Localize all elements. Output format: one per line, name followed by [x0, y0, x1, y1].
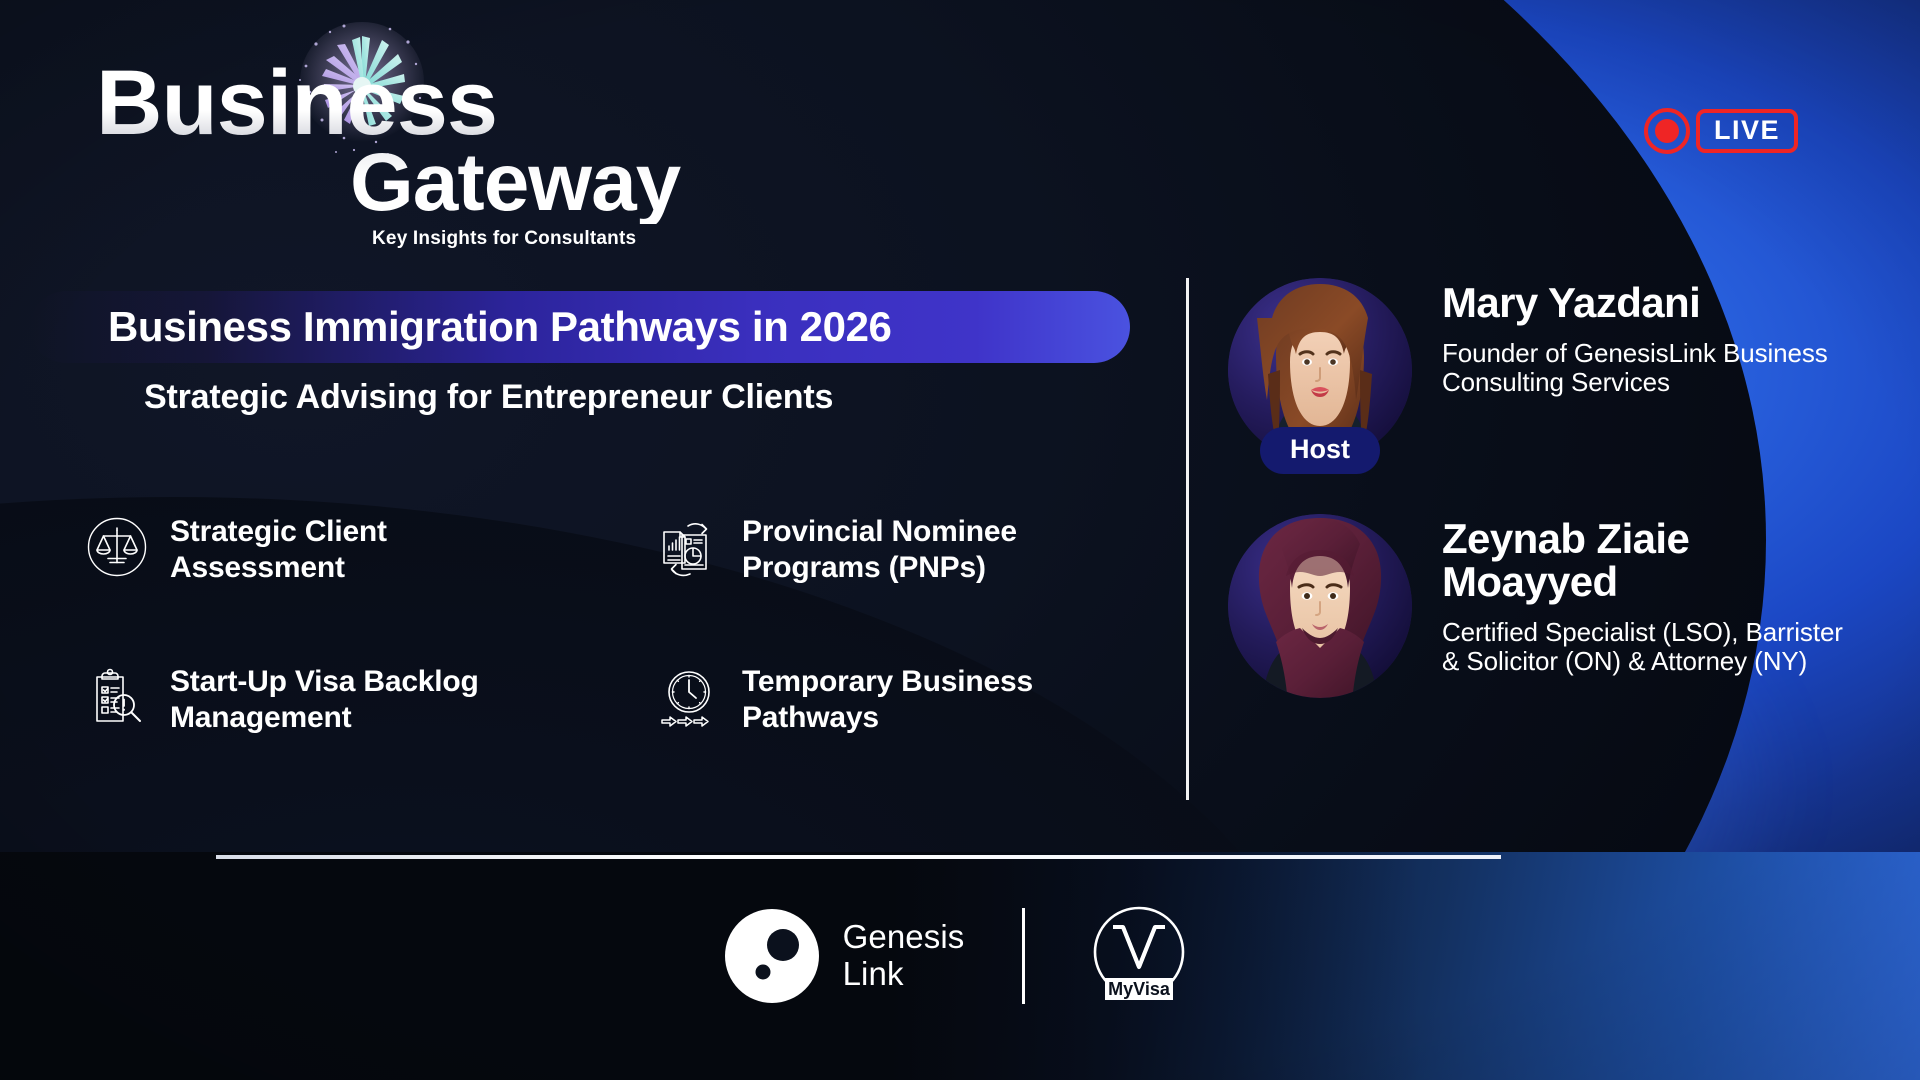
speaker-name: Mary Yazdani [1442, 282, 1858, 325]
partner-logos: Genesis Link MyVisa [0, 900, 1920, 1012]
speaker-name: Zeynab Ziaie Moayyed [1442, 518, 1858, 604]
live-badge: LIVE [1644, 108, 1798, 154]
page-title: Business Immigration Pathways in 2026 [108, 303, 892, 351]
avatar [1228, 514, 1412, 698]
feature-label: Strategic Client Assessment [170, 514, 560, 586]
avatar-wrapper: Host [1228, 278, 1412, 462]
status-badge: Host [1260, 427, 1380, 474]
page-subtitle: Strategic Advising for Entrepreneur Clie… [144, 378, 833, 417]
record-dot-icon [1644, 108, 1690, 154]
speaker-info: Zeynab Ziaie Moayyed Certified Specialis… [1442, 514, 1858, 676]
clock-arrows-icon [658, 666, 720, 728]
avatar-wrapper [1228, 514, 1412, 698]
logo-text-line1: Business [96, 58, 736, 148]
scales-of-justice-icon [86, 516, 148, 578]
list-item: Host Mary Yazdani Founder of GenesisLink… [1228, 278, 1858, 462]
feature-label: Start-Up Visa Backlog Management [170, 664, 560, 736]
genesislink-circle-mark-icon [725, 909, 819, 1003]
speaker-role: Certified Specialist (LSO), Barrister & … [1442, 618, 1858, 676]
myvisa-label: MyVisa [1109, 979, 1172, 999]
feature-label: Temporary Business Pathways [742, 664, 1132, 736]
myvisa-logo: MyVisa [1083, 900, 1195, 1012]
list-item: Strategic Client Assessment [86, 514, 574, 586]
genesislink-name: Genesis Link [843, 919, 965, 993]
genesislink-name-line1: Genesis [843, 919, 965, 956]
list-item: Provincial Nominee Programs (PNPs) [658, 514, 1146, 586]
logo-separator [1022, 908, 1025, 1004]
logo-tagline: Key Insights for Consultants [372, 228, 736, 250]
genesislink-name-line2: Link [843, 956, 965, 993]
feature-list: Strategic Client Assessment Provincial [86, 514, 1146, 736]
speaker-info: Mary Yazdani Founder of GenesisLink Busi… [1442, 278, 1858, 397]
brand-logo: Business Gateway Key Insights for Consul… [96, 58, 736, 250]
speaker-list: Host Mary Yazdani Founder of GenesisLink… [1228, 278, 1858, 750]
clipboard-checklist-magnifier-icon [86, 666, 148, 728]
list-item: Zeynab Ziaie Moayyed Certified Specialis… [1228, 514, 1858, 698]
logo-text-line2: Gateway [350, 142, 736, 224]
feature-label: Provincial Nominee Programs (PNPs) [742, 514, 1132, 586]
genesislink-logo: Genesis Link [725, 909, 965, 1003]
horizontal-divider [216, 855, 1501, 859]
list-item: Temporary Business Pathways [658, 664, 1146, 736]
list-item: Start-Up Visa Backlog Management [86, 664, 574, 736]
vertical-divider [1186, 278, 1189, 800]
speaker-role: Founder of GenesisLink Business Consulti… [1442, 339, 1858, 397]
title-banner: Business Immigration Pathways in 2026 [30, 291, 1130, 363]
documents-chart-refresh-icon [658, 516, 720, 578]
live-label: LIVE [1696, 109, 1798, 153]
